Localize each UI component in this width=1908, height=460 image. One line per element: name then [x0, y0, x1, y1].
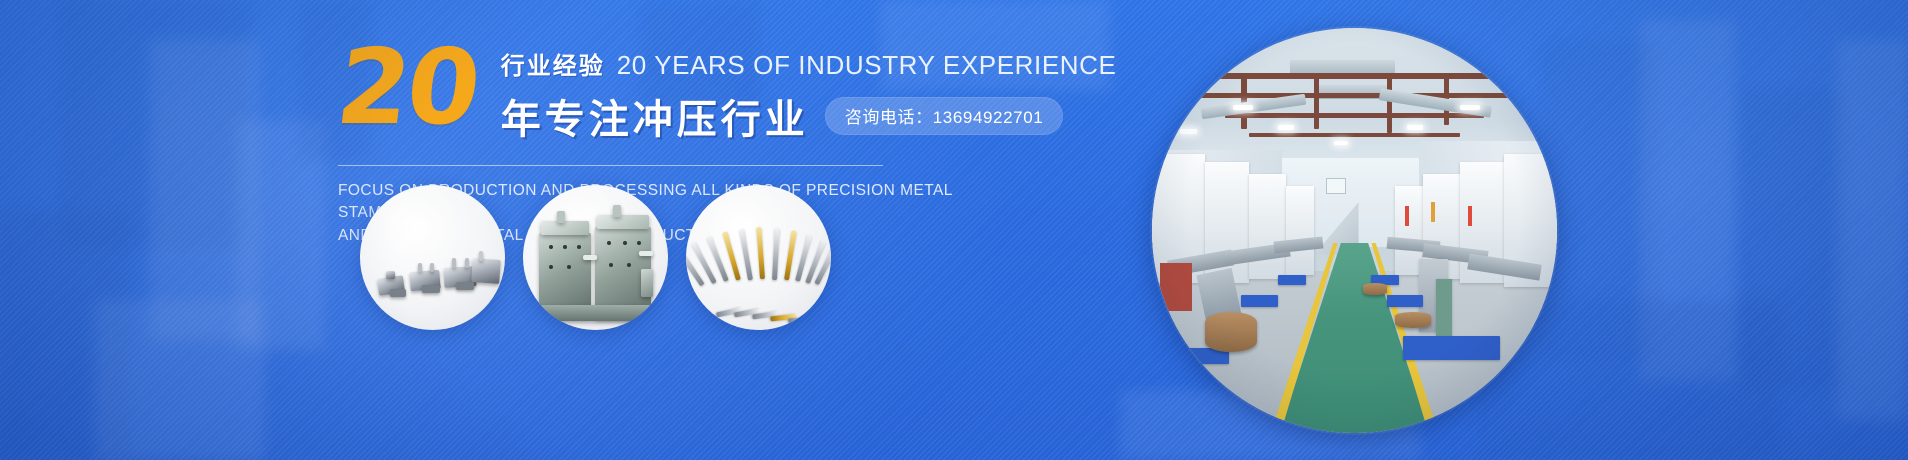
divider-rule: [338, 165, 883, 166]
headline-text-group: 行业经验 20 YEARS OF INDUSTRY EXPERIENCE 年专注…: [487, 40, 1117, 145]
factory-workshop-photo: [1152, 28, 1557, 433]
headline-row: 20 行业经验 20 YEARS OF INDUSTRY EXPERIENCE …: [338, 40, 1098, 145]
headline-line-2: 年专注冲压行业 咨询电话：13694922701: [501, 87, 1117, 145]
headline-cn-small: 行业经验: [501, 46, 605, 81]
phone-badge[interactable]: 咨询电话：13694922701: [825, 97, 1064, 135]
headline-en-small: 20 YEARS OF INDUSTRY EXPERIENCE: [617, 50, 1117, 81]
terminal-pins-photo: [686, 185, 831, 330]
headline-cn-large: 年专注冲压行业: [501, 87, 809, 145]
years-number: 20: [332, 40, 492, 136]
metal-connectors-photo: [360, 185, 505, 330]
promo-banner: 20 行业经验 20 YEARS OF INDUSTRY EXPERIENCE …: [0, 0, 1908, 460]
headline-line-1: 行业经验 20 YEARS OF INDUSTRY EXPERIENCE: [501, 46, 1117, 81]
stamping-dies-photo: [523, 185, 668, 330]
product-circle-group: [360, 185, 831, 330]
